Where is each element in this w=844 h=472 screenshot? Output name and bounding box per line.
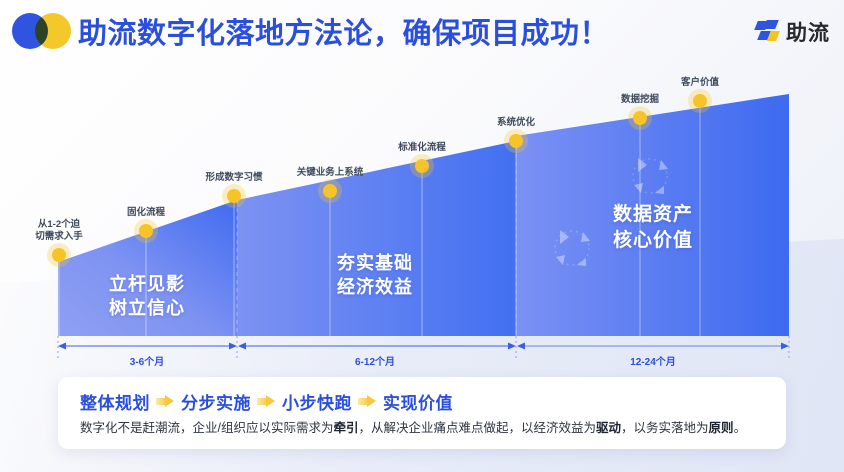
- milestone-label-5: 标准化流程: [398, 142, 446, 154]
- desc-part-5: ，以务实落地为: [621, 421, 709, 435]
- logo-circle-yellow: [35, 13, 71, 49]
- milestone-label-8: 客户价值: [681, 77, 719, 89]
- milestone-dot: [693, 94, 707, 108]
- desc-part-2: 牵引: [333, 421, 358, 435]
- header: 助流数字化落地方法论，确保项目成功！ 助流: [0, 0, 844, 62]
- phase-label-3-line1: 数据资产: [613, 204, 693, 225]
- step-label-4: 实现价值: [383, 389, 453, 414]
- steps-row: 整体规划 分步实施 小步快跑 实现价值: [80, 389, 453, 414]
- overlapping-circles-logo-icon: [12, 13, 74, 49]
- timeline-svg: [0, 336, 844, 372]
- growth-staircase-chart: 从1-2个迫切需求入手 固化流程 形成数字习惯 关键业务上系统 标准化流程 系统…: [0, 62, 844, 362]
- lightning-bolt-icon: [755, 19, 781, 45]
- milestone-dot: [139, 224, 153, 238]
- desc-part-7: 。: [734, 421, 747, 435]
- phase-label-1-line1: 立杆见影: [109, 274, 185, 294]
- brand-name: 助流: [786, 17, 830, 47]
- slide-root: 助流数字化落地方法论，确保项目成功！ 助流: [0, 0, 844, 472]
- milestone-label-7: 数据挖掘: [621, 94, 659, 106]
- phase-label-1-line2: 树立信心: [109, 298, 185, 318]
- milestone-dot: [227, 189, 241, 203]
- milestone-dot: [509, 134, 523, 148]
- summary-description: 数字化不是赶潮流，企业/组织应以实际需求为牵引，从解决企业痛点难点做起，以经济效…: [80, 419, 768, 438]
- phase-label-2-line1: 夯实基础: [337, 253, 413, 273]
- phase-label-3: 数据资产 核心价值: [613, 202, 693, 253]
- phase-label-3-line2: 核心价值: [613, 230, 693, 251]
- milestone-dot: [633, 111, 647, 125]
- milestone-label-2: 固化流程: [127, 207, 165, 219]
- milestone-label-4: 关键业务上系统: [297, 167, 364, 179]
- desc-part-4: 驱动: [596, 421, 621, 435]
- milestone-dot: [52, 248, 66, 262]
- milestone-label-3: 形成数字习惯: [205, 172, 262, 184]
- phase-label-1: 立杆见影 树立信心: [109, 272, 185, 321]
- milestone-label-1: 从1-2个迫切需求入手: [35, 219, 83, 243]
- desc-part-3: ，从解决企业痛点难点做起，以经济效益为: [359, 421, 597, 435]
- phase-label-2-line2: 经济效益: [337, 277, 413, 297]
- timeline-label-1: 3-6个月: [130, 353, 164, 368]
- timeline-label-3: 12-24个月: [630, 353, 676, 368]
- milestone-label-6: 系统优化: [497, 117, 535, 129]
- phase-label-2: 夯实基础 经济效益: [337, 251, 413, 300]
- desc-part-6: 原则: [709, 421, 734, 435]
- milestone-dot: [323, 184, 337, 198]
- right-arrow-icon-3: [358, 395, 377, 408]
- summary-card: 整体规划 分步实施 小步快跑 实现价值 数字化不是赶潮流，企业/组织应以实际需求…: [58, 377, 786, 449]
- step-label-2: 分步实施: [181, 389, 251, 414]
- timeline-axis: 3-6个月 6-12个月 12-24个月: [0, 336, 844, 372]
- timeline-label-2: 6-12个月: [355, 353, 395, 368]
- milestone-dot: [415, 159, 429, 173]
- brand-lockup: 助流: [755, 17, 830, 47]
- desc-part-1: 数字化不是赶潮流，企业/组织应以实际需求为: [80, 421, 333, 435]
- page-title: 助流数字化落地方法论，确保项目成功！: [78, 10, 609, 52]
- right-arrow-icon-2: [257, 395, 276, 408]
- area-phase-2: [237, 141, 516, 336]
- step-label-1: 整体规划: [80, 389, 150, 414]
- step-label-3: 小步快跑: [282, 389, 352, 414]
- right-arrow-icon-1: [156, 395, 175, 408]
